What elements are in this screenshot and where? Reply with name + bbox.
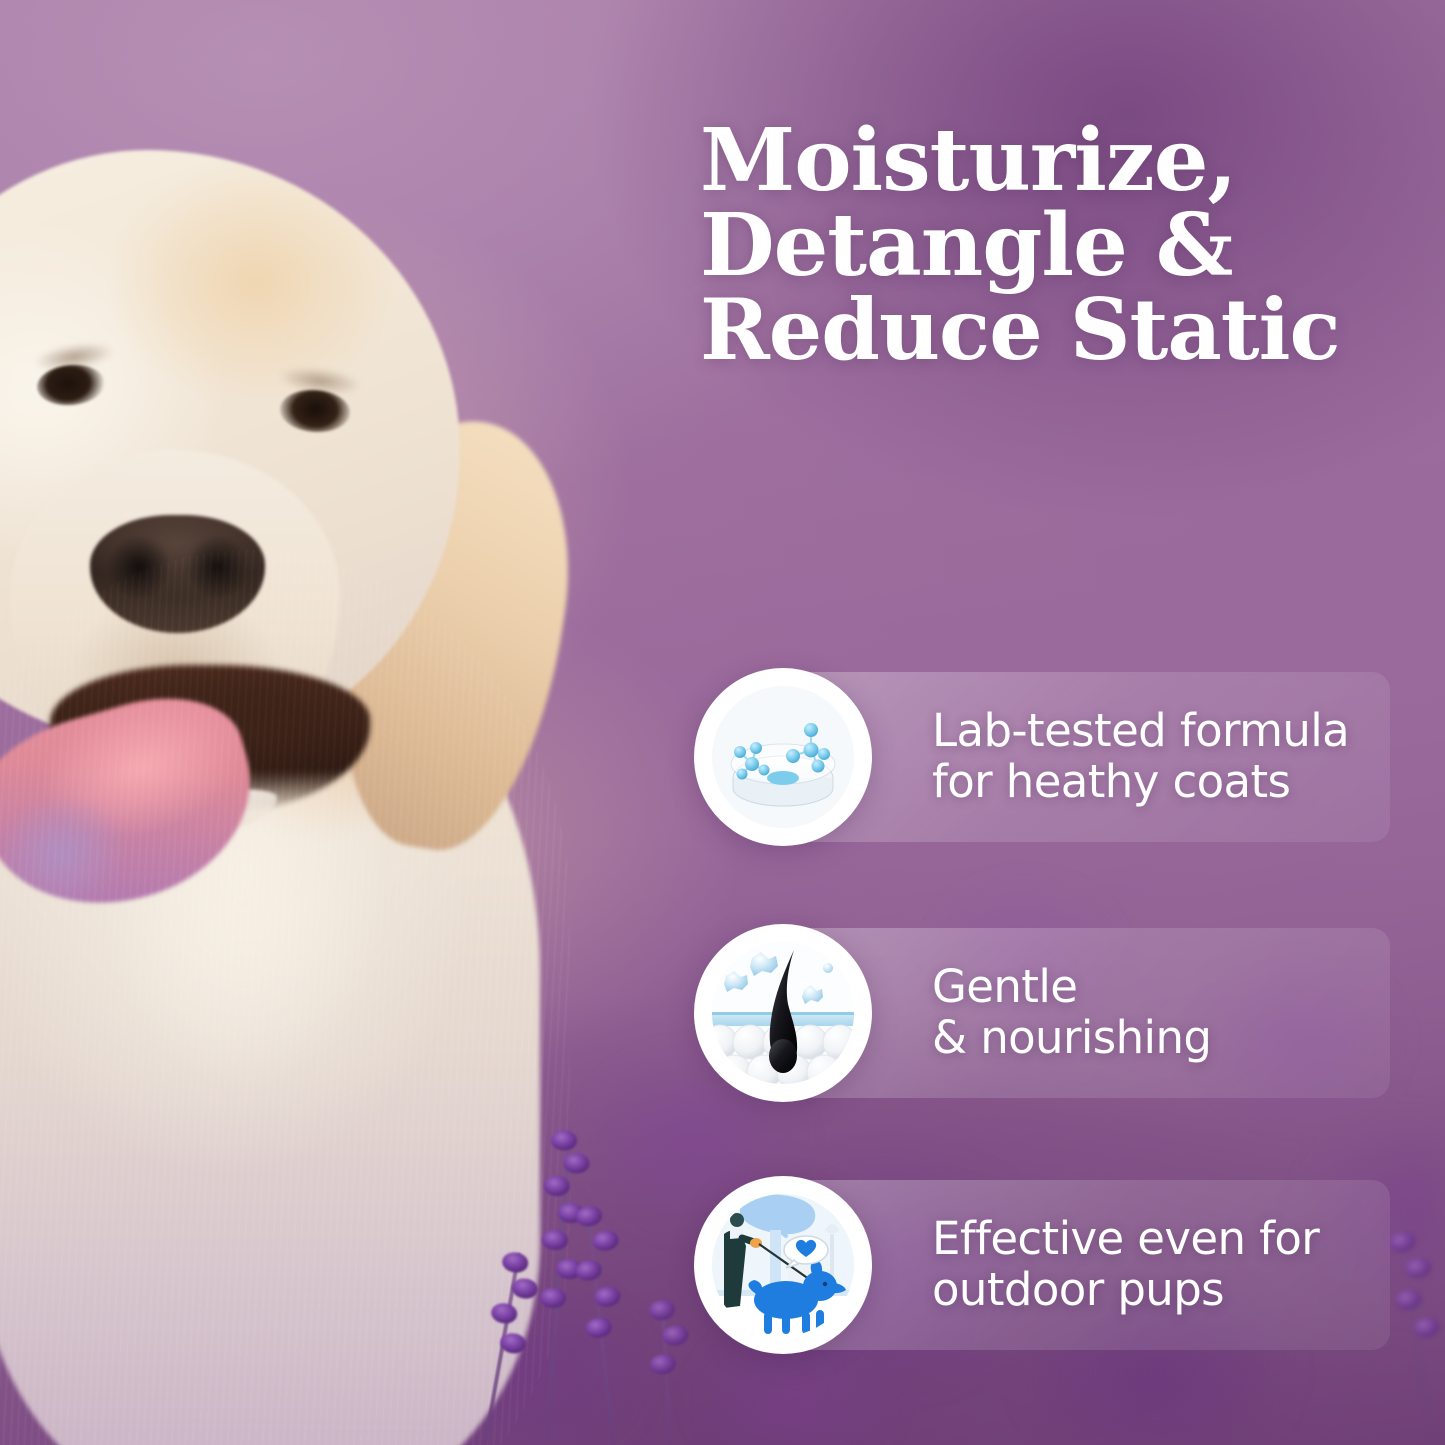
feature-label: Effective even for outdoor pups — [932, 1214, 1402, 1316]
feature-card-outdoor-pups: Effective even for outdoor pups — [694, 1180, 1390, 1350]
hair-follicle-icon — [694, 924, 872, 1102]
dog-walking-outdoors-icon — [694, 1176, 872, 1354]
feature-card-lab-tested: Lab-tested formula for heathy coats — [694, 672, 1390, 842]
headline-line-3: Reduce Static — [700, 288, 1430, 371]
page-title: Moisturize, Detangle & Reduce Static — [700, 118, 1430, 371]
petri-dish-molecule-icon — [694, 668, 872, 846]
headline-line-1: Moisturize, — [700, 118, 1430, 203]
feature-card-gentle-nourishing: Gentle & nourishing — [694, 928, 1390, 1098]
feature-label-line-1: Gentle — [932, 962, 1402, 1013]
feature-label: Lab-tested formula for heathy coats — [932, 706, 1402, 808]
feature-label-line-1: Effective even for — [932, 1214, 1402, 1265]
feature-label-line-2: outdoor pups — [932, 1265, 1402, 1316]
feature-label-line-2: for heathy coats — [932, 757, 1402, 808]
feature-label: Gentle & nourishing — [932, 962, 1402, 1064]
product-feature-banner: Moisturize, Detangle & Reduce Static — [0, 0, 1445, 1445]
headline-line-2: Detangle & — [700, 203, 1430, 288]
feature-label-line-1: Lab-tested formula — [932, 706, 1402, 757]
lavender-sprig — [640, 1299, 692, 1445]
feature-label-line-2: & nourishing — [932, 1013, 1402, 1064]
